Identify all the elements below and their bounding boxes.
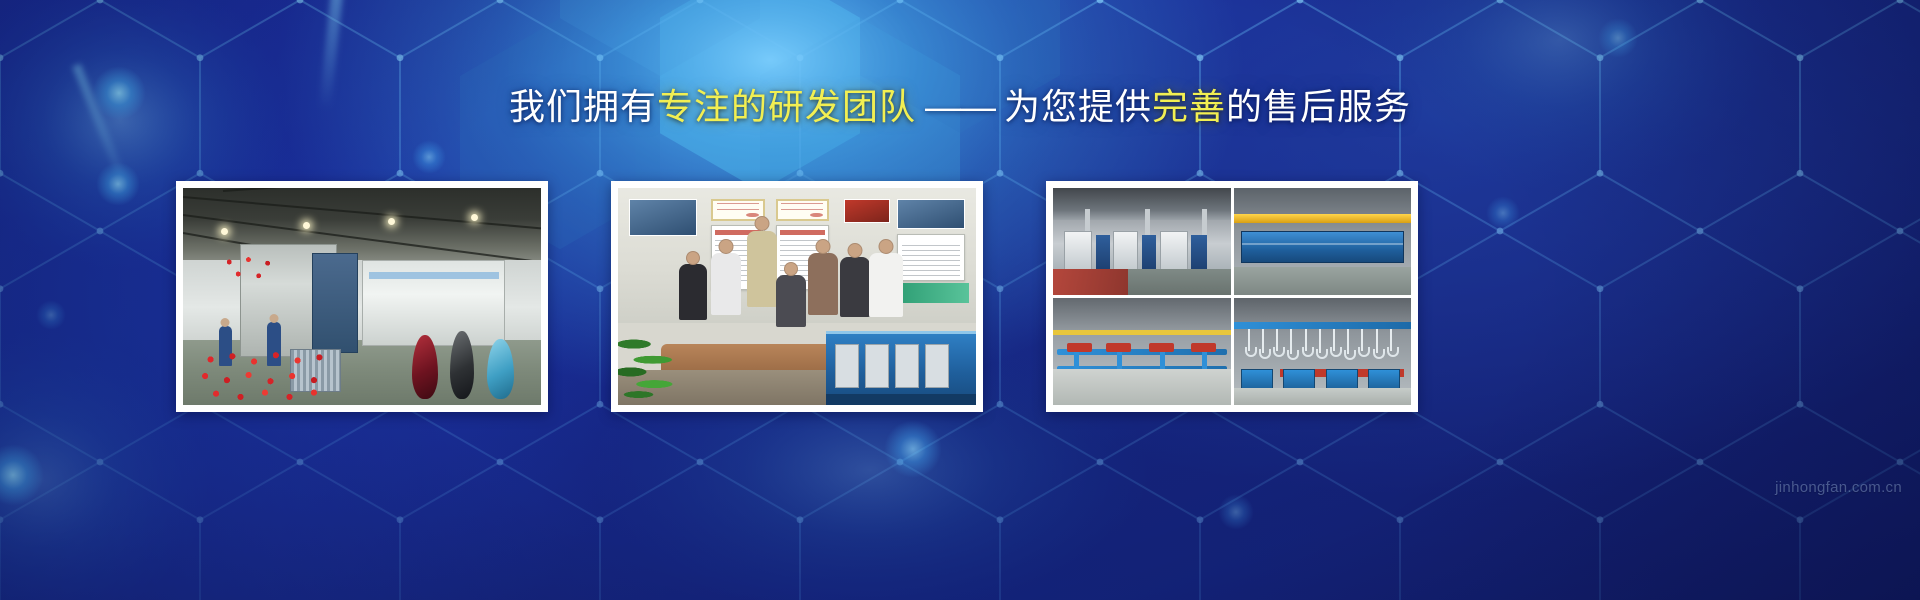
collage-cell-tunnel-oven — [1234, 188, 1412, 295]
collage-cell-conveyor — [1053, 298, 1231, 405]
photo-panel-group — [176, 181, 1419, 412]
collage-cell-workshop — [1053, 188, 1231, 295]
customer-meeting-photo — [618, 188, 976, 405]
factory-workshop-collage-photo — [1053, 188, 1411, 405]
collage-cell-hanging-line — [1234, 298, 1412, 405]
photo-panel-3-image — [1053, 188, 1411, 405]
headline-part-4: 为您提供 — [1004, 86, 1152, 127]
photo-panel-2[interactable] — [611, 181, 983, 412]
photo-panel-1[interactable] — [176, 181, 548, 412]
headline-part-6: 的售后服务 — [1226, 86, 1411, 127]
headline-em-dash: —— — [916, 86, 1004, 127]
photo-panel-3[interactable] — [1046, 181, 1418, 412]
headline-part-2-highlight: 专注的研发团队 — [657, 86, 916, 127]
photo-panel-2-image — [618, 188, 976, 405]
site-watermark: jinhongfan.com.cn — [1775, 479, 1902, 496]
banner-headline: 我们拥有专注的研发团队 —— 为您提供完善的售后服务 — [0, 84, 1920, 130]
headline-part-5-highlight: 完善 — [1152, 86, 1226, 127]
factory-coating-line-photo — [183, 188, 541, 405]
headline-part-1: 我们拥有 — [509, 86, 657, 127]
hero-banner: 我们拥有专注的研发团队 —— 为您提供完善的售后服务 — [0, 0, 1920, 600]
photo-panel-1-image — [183, 188, 541, 405]
